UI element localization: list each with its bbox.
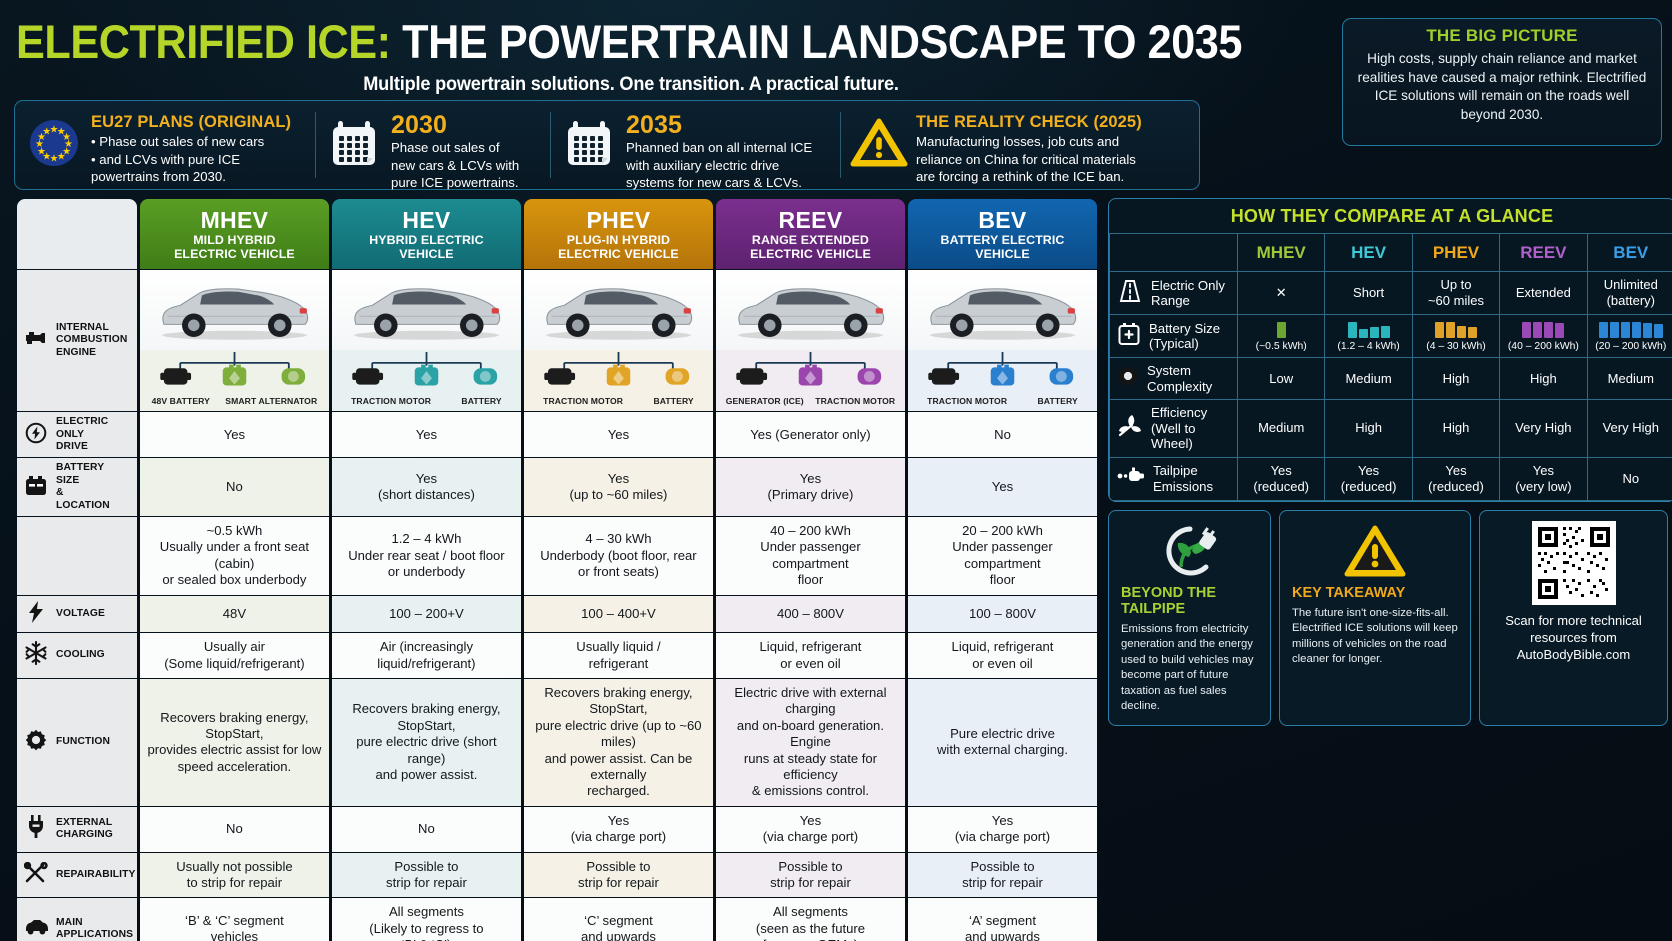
column-abbr: HEV xyxy=(336,208,517,232)
column-fullname: RANGE EXTENDEDELECTRIC VEHICLE xyxy=(720,233,901,261)
glance-row-label-text: SystemComplexity xyxy=(1147,363,1212,394)
battery-icon xyxy=(25,475,47,500)
matrix-row-9: MAINAPPLICATIONS‘B’ & ‘C’ segmentvehicle… xyxy=(17,898,1097,941)
glance-cell-hev-3: High xyxy=(1325,400,1412,458)
diagram-label: TRACTION MOTOR xyxy=(351,393,431,409)
glance-cell-reev-3: Very High xyxy=(1500,400,1587,458)
cell-reev-3: 40 – 200 kWhUnder passenger compartmentf… xyxy=(716,517,905,595)
side-panel: HOW THEY COMPARE AT A GLANCE MHEVHEVPHEV… xyxy=(1108,198,1672,941)
glance-col-phev: PHEV xyxy=(1412,234,1499,272)
tools-icon xyxy=(24,862,48,888)
plug-leaf-icon xyxy=(1121,521,1258,581)
cell-reev-7: Yes(via charge port) xyxy=(716,807,905,852)
row-label-text: FUNCTION xyxy=(56,736,110,748)
battery-bar-group xyxy=(1241,320,1321,338)
column-header-reev[interactable]: REEV RANGE EXTENDEDELECTRIC VEHICLE xyxy=(716,199,905,269)
row-label-text: COOLING xyxy=(56,649,105,661)
glance-bars-reev: (40 – 200 kWh) xyxy=(1500,315,1587,358)
cell-phev-5: Usually liquid /refrigerant xyxy=(524,633,713,678)
glance-row-3: Efficiency(Well to Wheel)MediumHighHighV… xyxy=(1110,400,1672,458)
cell-bev-7: Yes(via charge port) xyxy=(908,807,1097,852)
snowflake-icon xyxy=(24,641,48,669)
timeline-heading: EU27 PLANS (ORIGINAL) xyxy=(91,112,291,132)
diagram-label: TRACTION MOTOR xyxy=(927,393,1007,409)
cell-bev-5: Liquid, refrigerantor even oil xyxy=(908,633,1097,678)
header: ELECTRIFIED ICE: THE POWERTRAIN LANDSCAP… xyxy=(10,10,1662,98)
glance-cell-bev-4: No xyxy=(1587,457,1672,500)
cell-hev-5: Air (increasinglyliquid/refrigerant) xyxy=(332,633,521,678)
row-label-blank xyxy=(17,517,137,595)
timeline-strip: ★★★★★★★★★★★★ EU27 PLANS (ORIGINAL) • Pha… xyxy=(14,100,1200,190)
qr-caption: Scan for more technical resources from A… xyxy=(1492,612,1655,663)
timeline-item-3: THE REALITY CHECK (2025) Manufacturing l… xyxy=(840,108,1199,182)
cell-phev-9: ‘C’ segmentand upwards xyxy=(524,898,713,941)
glance-row-2: SystemComplexityLowMediumHighHighMedium xyxy=(1110,358,1672,400)
car-icon xyxy=(24,918,49,939)
timeline-lines: Phase out sales ofnew cars & LCVs withpu… xyxy=(391,139,519,192)
glance-col-bev: BEV xyxy=(1587,234,1672,272)
glance-cell-mhev-0: ✕ xyxy=(1238,272,1325,315)
eu-flag-icon: ★★★★★★★★★★★★ xyxy=(28,117,80,174)
powertrain-diagram-bev: TRACTION MOTOR BATTERY xyxy=(908,270,1097,411)
diagram-label: SMART ALTERNATOR xyxy=(225,393,317,409)
cell-hev-6: Recovers braking energy, StopStart,pure … xyxy=(332,679,521,806)
matrix-row-8: REPAIRABILITYUsually not possibleto stri… xyxy=(17,853,1097,898)
key-takeaway-box: KEY TAKEAWAY The future isn't one-size-f… xyxy=(1279,510,1471,726)
cell-phev-2: Yes(up to ~60 miles) xyxy=(524,458,713,516)
row-label-text: BATTERYSIZE&LOCATION xyxy=(56,462,110,512)
title-block: ELECTRIFIED ICE: THE POWERTRAIN LANDSCAP… xyxy=(16,16,1246,96)
cell-phev-1: Yes xyxy=(524,412,713,457)
plug-icon xyxy=(26,815,46,842)
row-label-internal-combustion-engine: INTERNALCOMBUSTIONENGINE xyxy=(17,270,137,411)
diagram-label: BATTERY xyxy=(1038,393,1078,409)
glance-cell-phev-4: Yes(reduced) xyxy=(1412,457,1499,500)
matrix-row-2: BATTERYSIZE&LOCATIONNoYes(short distance… xyxy=(17,458,1097,516)
cell-mhev-2: No xyxy=(140,458,329,516)
cell-mhev-4: 48V xyxy=(140,596,329,632)
cell-reev-6: Electric drive with external chargingand… xyxy=(716,679,905,806)
glance-bars-bev: (20 – 200 kWh) xyxy=(1587,315,1672,358)
matrix-row-3: ~0.5 kWhUsually under a front seat (cabi… xyxy=(17,517,1097,595)
glance-row-label: Efficiency(Well to Wheel) xyxy=(1110,400,1238,458)
row-label-battery-size-location: BATTERYSIZE&LOCATION xyxy=(17,458,137,516)
row-label-main-applications: MAINAPPLICATIONS xyxy=(17,898,137,941)
glance-cell-reev-2: High xyxy=(1500,358,1587,400)
timeline-heading: 2035 xyxy=(626,112,812,138)
diagram-label: TRACTION MOTOR xyxy=(543,393,623,409)
battery-bar-caption: (20 – 200 kWh) xyxy=(1591,341,1671,352)
glance-col-hev: HEV xyxy=(1325,234,1412,272)
glance-row-label: SystemComplexity xyxy=(1110,358,1238,400)
cell-mhev-3: ~0.5 kWhUsually under a front seat (cabi… xyxy=(140,517,329,595)
column-header-phev[interactable]: PHEV PLUG-IN HYBRIDELECTRIC VEHICLE xyxy=(524,199,713,269)
qr-box[interactable]: Scan for more technical resources from A… xyxy=(1479,510,1668,726)
glance-row-label-text: Efficiency(Well to Wheel) xyxy=(1151,405,1234,452)
battery-plus-icon xyxy=(1117,322,1141,351)
cell-hev-9: All segments(Likely to regress to‘B’ & ‘… xyxy=(332,898,521,941)
battery-bar-caption: (1.2 – 4 kWh) xyxy=(1328,341,1408,352)
main-content: MHEV MILD HYBRIDELECTRIC VEHICLE HEV HYB… xyxy=(14,198,1662,941)
row-label-text: ELECTRICONLYDRIVE xyxy=(56,416,108,453)
row-label-text: MAINAPPLICATIONS xyxy=(56,917,133,941)
powertrain-diagram-reev: GENERATOR (ICE) TRACTION MOTOR xyxy=(716,270,905,411)
gear-icon xyxy=(25,729,47,755)
glance-cell-hev-2: Medium xyxy=(1325,358,1412,400)
warning-triangle-icon xyxy=(1292,521,1458,581)
diagram-label: BATTERY xyxy=(461,393,501,409)
glance-cell-hev-4: Yes(reduced) xyxy=(1325,457,1412,500)
matrix-row-5: COOLINGUsually air(Some liquid/refrigera… xyxy=(17,633,1097,678)
timeline-item-1: 2030 Phase out sales ofnew cars & LCVs w… xyxy=(315,108,550,182)
column-abbr: PHEV xyxy=(528,208,709,232)
glance-cell-reev-0: Extended xyxy=(1500,272,1587,315)
column-fullname: PLUG-IN HYBRIDELECTRIC VEHICLE xyxy=(528,233,709,261)
matrix-header-row: MHEV MILD HYBRIDELECTRIC VEHICLE HEV HYB… xyxy=(17,199,1097,269)
column-header-mhev[interactable]: MHEV MILD HYBRIDELECTRIC VEHICLE xyxy=(140,199,329,269)
glance-cell-phev-0: Up to~60 miles xyxy=(1412,272,1499,315)
engine-icon xyxy=(24,328,48,352)
battery-bar-group xyxy=(1328,320,1408,338)
matrix-row-4: VOLTAGE48V100 – 200+V100 – 400+V400 – 80… xyxy=(17,596,1097,632)
column-fullname: HYBRID ELECTRICVEHICLE xyxy=(336,233,517,261)
cell-reev-9: All segments(seen as the futurefor many … xyxy=(716,898,905,941)
diagram-label: BATTERY xyxy=(653,393,693,409)
glance-cell-mhev-2: Low xyxy=(1238,358,1325,400)
battery-bar-group xyxy=(1591,320,1671,338)
title-white: THE POWERTRAIN LANDSCAPE TO 2035 xyxy=(402,15,1242,68)
glance-row-label: Battery Size(Typical) xyxy=(1110,315,1238,358)
glance-corner xyxy=(1110,234,1238,272)
glance-row-4: TailpipeEmissionsYes(reduced)Yes(reduced… xyxy=(1110,457,1672,500)
row-label-repairability: REPAIRABILITY xyxy=(17,853,137,898)
beyond-tailpipe-body: Emissions from electricity generation an… xyxy=(1121,622,1258,715)
cell-phev-6: Recovers braking energy, StopStart,pure … xyxy=(524,679,713,806)
glance-table: MHEVHEVPHEVREEVBEV Electric OnlyRange✕Sh… xyxy=(1109,233,1672,501)
cell-reev-5: Liquid, refrigerantor even oil xyxy=(716,633,905,678)
cell-mhev-1: Yes xyxy=(140,412,329,457)
svg-text:★: ★ xyxy=(42,126,51,137)
cell-bev-3: 20 – 200 kWhUnder passenger compartmentf… xyxy=(908,517,1097,595)
battery-bar-caption: (~0.5 kWh) xyxy=(1241,341,1321,352)
glance-bars-phev: (4 – 30 kWh) xyxy=(1412,315,1499,358)
row-label-electric-only-drive: ELECTRICONLYDRIVE xyxy=(17,412,137,457)
diagram-label: 48V BATTERY xyxy=(152,393,210,409)
cell-reev-1: Yes (Generator only) xyxy=(716,412,905,457)
row-label-text: REPAIRABILITY xyxy=(56,869,135,881)
row-label-cooling: COOLING xyxy=(17,633,137,678)
bolt-circle-icon xyxy=(25,422,47,448)
cell-phev-7: Yes(via charge port) xyxy=(524,807,713,852)
row-label-function: FUNCTION xyxy=(17,679,137,806)
cell-hev-1: Yes xyxy=(332,412,521,457)
glance-cell-bev-2: Medium xyxy=(1587,358,1672,400)
qr-code-icon[interactable] xyxy=(1492,521,1655,605)
row-label-text: VOLTAGE xyxy=(56,608,105,620)
cell-hev-7: No xyxy=(332,807,521,852)
glance-header-row: MHEVHEVPHEVREEVBEV xyxy=(1110,234,1672,272)
cell-bev-1: No xyxy=(908,412,1097,457)
page-title: ELECTRIFIED ICE: THE POWERTRAIN LANDSCAP… xyxy=(16,16,1148,68)
glance-row-0: Electric OnlyRange✕ShortUp to~60 milesEx… xyxy=(1110,272,1672,315)
glance-row-label: TailpipeEmissions xyxy=(1110,457,1238,500)
leaf-icon xyxy=(1117,414,1143,443)
infographic-page: ELECTRIFIED ICE: THE POWERTRAIN LANDSCAP… xyxy=(0,0,1672,941)
cell-bev-6: Pure electric drivewith external chargin… xyxy=(908,679,1097,806)
glance-cell-bev-3: Very High xyxy=(1587,400,1672,458)
cell-hev-3: 1.2 – 4 kWhUnder rear seat / boot flooro… xyxy=(332,517,521,595)
road-range-icon xyxy=(1117,278,1143,309)
cell-phev-8: Possible tostrip for repair xyxy=(524,853,713,898)
glance-table-box: HOW THEY COMPARE AT A GLANCE MHEVHEVPHEV… xyxy=(1108,198,1672,502)
glance-col-reev: REEV xyxy=(1500,234,1587,272)
diagram-label: GENERATOR (ICE) xyxy=(726,393,804,409)
glance-cell-bev-0: Unlimited(battery) xyxy=(1587,272,1672,315)
glance-row-label: Electric OnlyRange xyxy=(1110,272,1238,315)
cell-hev-2: Yes(short distances) xyxy=(332,458,521,516)
timeline-item-0: ★★★★★★★★★★★★ EU27 PLANS (ORIGINAL) • Pha… xyxy=(15,108,315,182)
glance-bars-mhev: (~0.5 kWh) xyxy=(1238,315,1325,358)
row-label-external-charging: EXTERNALCHARGING xyxy=(17,807,137,852)
glance-cell-hev-0: Short xyxy=(1325,272,1412,315)
column-abbr: MHEV xyxy=(144,208,325,232)
battery-bar-caption: (40 – 200 kWh) xyxy=(1503,341,1583,352)
glance-cell-phev-3: High xyxy=(1412,400,1499,458)
matrix-corner xyxy=(17,199,137,269)
row-label-text: INTERNALCOMBUSTIONENGINE xyxy=(56,322,127,359)
glance-row-1: Battery Size(Typical) (~0.5 kWh) (1.2 – … xyxy=(1110,315,1672,358)
matrix-row-7: EXTERNALCHARGINGNoNoYes(via charge port)… xyxy=(17,807,1097,852)
column-abbr: REEV xyxy=(720,208,901,232)
cell-bev-4: 100 – 800V xyxy=(908,596,1097,632)
glance-row-label-text: Battery Size(Typical) xyxy=(1149,321,1220,352)
timeline-heading: 2030 xyxy=(391,112,519,138)
battery-bar-group xyxy=(1503,320,1583,338)
glance-row-label-text: Electric OnlyRange xyxy=(1151,278,1225,309)
lightning-icon xyxy=(27,600,45,628)
row-label-text: EXTERNALCHARGING xyxy=(56,817,113,842)
glance-row-label-text: TailpipeEmissions xyxy=(1153,463,1213,494)
cell-mhev-7: No xyxy=(140,807,329,852)
gear-icon xyxy=(1117,365,1139,392)
title-lime: ELECTRIFIED ICE: xyxy=(16,15,391,68)
column-header-hev[interactable]: HEV HYBRID ELECTRICVEHICLE xyxy=(332,199,521,269)
timeline-lines: Phanned ban on all internal ICEwith auxi… xyxy=(626,139,812,192)
column-header-bev[interactable]: BEV BATTERY ELECTRICVEHICLE xyxy=(908,199,1097,269)
glance-cell-phev-2: High xyxy=(1412,358,1499,400)
cell-hev-8: Possible tostrip for repair xyxy=(332,853,521,898)
glance-cell-mhev-3: Medium xyxy=(1238,400,1325,458)
bottom-boxes: BEYOND THE TAILPIPE Emissions from elect… xyxy=(1108,510,1672,726)
cell-hev-4: 100 – 200+V xyxy=(332,596,521,632)
cell-mhev-9: ‘B’ & ‘C’ segmentvehicles xyxy=(140,898,329,941)
cell-reev-4: 400 – 800V xyxy=(716,596,905,632)
powertrain-diagram-hev: TRACTION MOTOR BATTERY xyxy=(332,270,521,411)
matrix-row-6: FUNCTIONRecovers braking energy, StopSta… xyxy=(17,679,1097,806)
column-abbr: BEV xyxy=(912,208,1093,232)
big-picture-title: THE BIG PICTURE xyxy=(1355,26,1649,46)
key-takeaway-title: KEY TAKEAWAY xyxy=(1292,585,1458,601)
glance-cell-mhev-4: Yes(reduced) xyxy=(1238,457,1325,500)
beyond-tailpipe-box: BEYOND THE TAILPIPE Emissions from elect… xyxy=(1108,510,1271,726)
cell-bev-8: Possible tostrip for repair xyxy=(908,853,1097,898)
cell-bev-2: Yes xyxy=(908,458,1097,516)
column-fullname: MILD HYBRIDELECTRIC VEHICLE xyxy=(144,233,325,261)
powertrain-diagram-phev: TRACTION MOTOR BATTERY xyxy=(524,270,713,411)
glance-col-mhev: MHEV xyxy=(1238,234,1325,272)
cell-reev-2: Yes(Primary drive) xyxy=(716,458,905,516)
cell-phev-3: 4 – 30 kWhUnderbody (boot floor, rearor … xyxy=(524,517,713,595)
glance-cell-reev-4: Yes(very low) xyxy=(1500,457,1587,500)
cell-mhev-6: Recovers braking energy, StopStart,provi… xyxy=(140,679,329,806)
timeline-lines: Manufacturing losses, job cuts andrelian… xyxy=(916,133,1142,186)
page-subtitle: Multiple powertrain solutions. One trans… xyxy=(59,73,1203,96)
beyond-tailpipe-title: BEYOND THE TAILPIPE xyxy=(1121,585,1258,617)
cell-phev-4: 100 – 400+V xyxy=(524,596,713,632)
calendar-icon xyxy=(331,119,377,172)
timeline-item-2: 2035 Phanned ban on all internal ICEwith… xyxy=(550,108,840,182)
column-fullname: BATTERY ELECTRICVEHICLE xyxy=(912,233,1093,261)
cell-mhev-8: Usually not possibleto strip for repair xyxy=(140,853,329,898)
row-label-voltage: VOLTAGE xyxy=(17,596,137,632)
key-takeaway-body: The future isn't one-size-fits-all. Elec… xyxy=(1292,606,1458,668)
battery-bar-group xyxy=(1416,320,1496,338)
cell-reev-8: Possible tostrip for repair xyxy=(716,853,905,898)
matrix-row-0: INTERNALCOMBUSTIONENGINE 48V BATTERY SMA… xyxy=(17,270,1097,411)
exhaust-icon xyxy=(1117,467,1145,490)
timeline-heading: THE REALITY CHECK (2025) xyxy=(916,112,1142,132)
comparison-matrix: MHEV MILD HYBRIDELECTRIC VEHICLE HEV HYB… xyxy=(14,198,1100,941)
big-picture-body: High costs, supply chain reliance and ma… xyxy=(1355,50,1649,124)
glance-bars-hev: (1.2 – 4 kWh) xyxy=(1325,315,1412,358)
battery-bar-caption: (4 – 30 kWh) xyxy=(1416,341,1496,352)
warning-triangle-icon xyxy=(850,118,908,173)
cell-mhev-5: Usually air(Some liquid/refrigerant) xyxy=(140,633,329,678)
cell-bev-9: ‘A’ segmentand upwards xyxy=(908,898,1097,941)
diagram-label: TRACTION MOTOR xyxy=(815,393,895,409)
timeline-lines: • Phase out sales of new cars• and LCVs … xyxy=(91,133,291,186)
matrix-row-1: ELECTRICONLYDRIVEYesYesYesYes (Generator… xyxy=(17,412,1097,457)
big-picture-box: THE BIG PICTURE High costs, supply chain… xyxy=(1342,18,1662,146)
comparison-matrix-panel: MHEV MILD HYBRIDELECTRIC VEHICLE HEV HYB… xyxy=(14,198,1100,941)
calendar-icon xyxy=(566,119,612,172)
glance-title: HOW THEY COMPARE AT A GLANCE xyxy=(1109,199,1672,233)
powertrain-diagram-mhev: 48V BATTERY SMART ALTERNATOR xyxy=(140,270,329,411)
